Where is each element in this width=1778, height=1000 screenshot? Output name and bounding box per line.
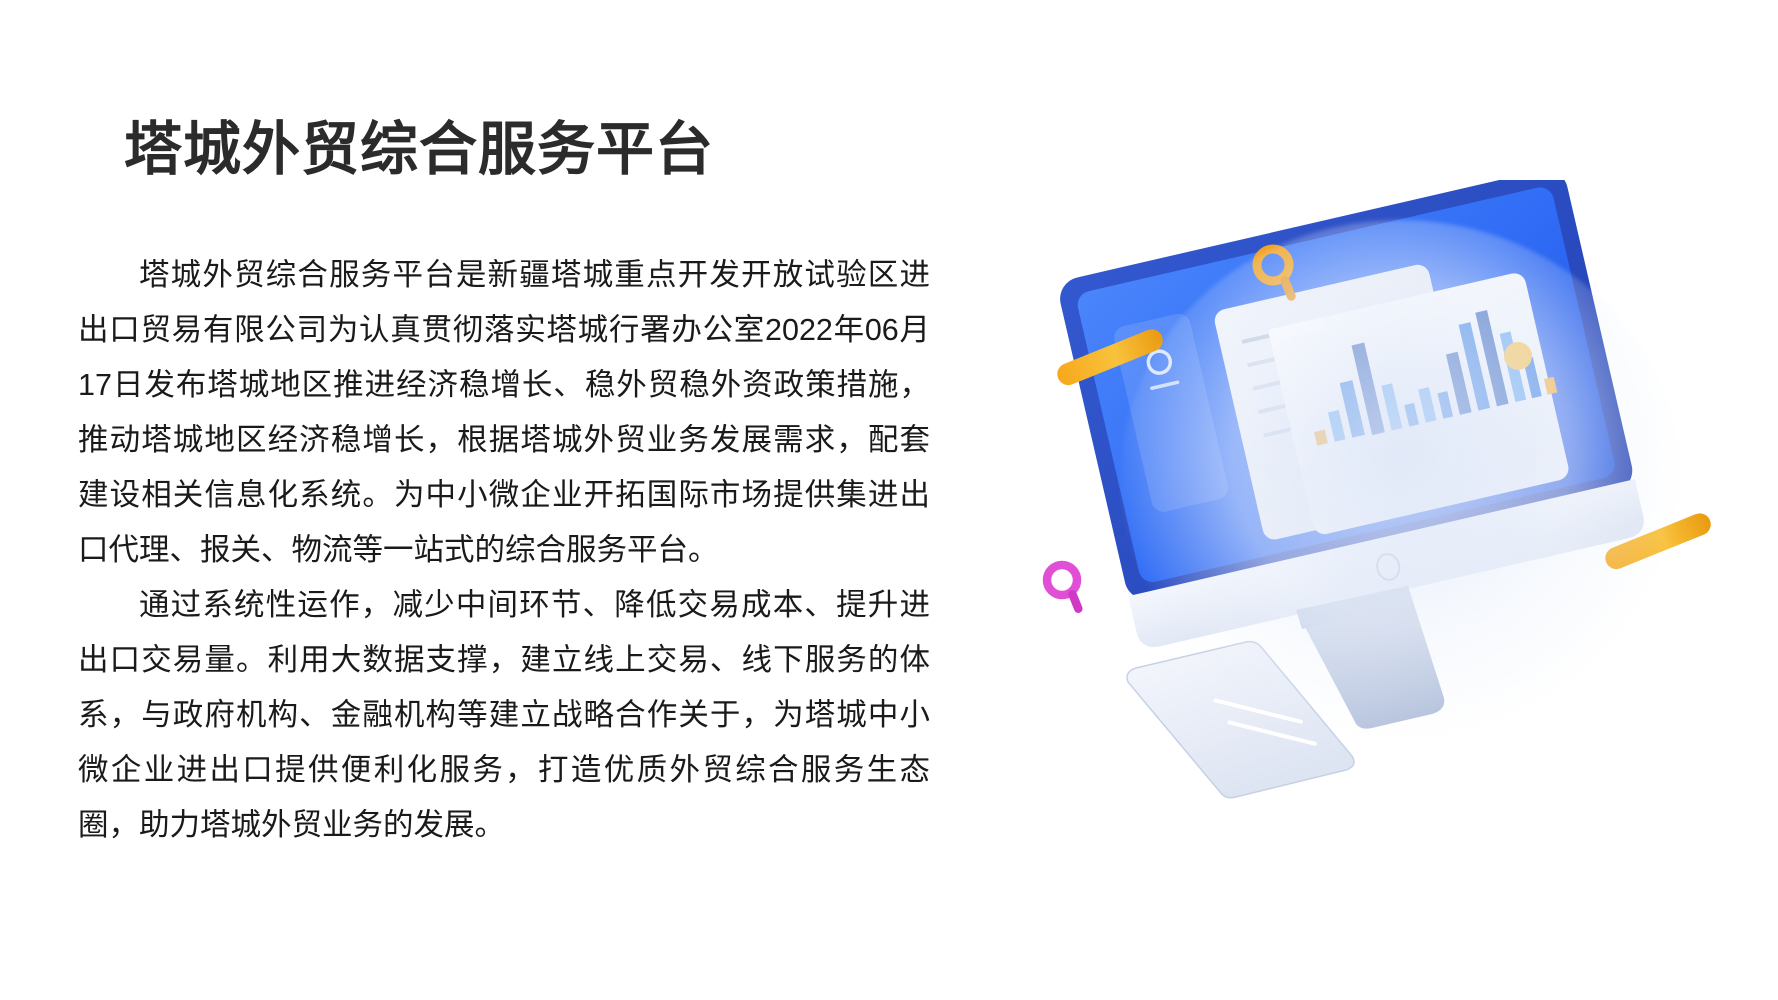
paragraph-2: 通过系统性运作，减少中间环节、降低交易成本、提升进出口交易量。利用大数据支撑，建… [78,578,930,853]
magnifier-magenta-icon [1047,565,1084,614]
paragraph-1: 塔城外贸综合服务平台是新疆塔城重点开发开放试验区进出口贸易有限公司为认真贯彻落实… [78,248,930,578]
page-title: 塔城外贸综合服务平台 [124,117,714,184]
body-copy: 塔城外贸综合服务平台是新疆塔城重点开发开放试验区进出口贸易有限公司为认真贯彻落实… [78,248,930,853]
text-column: 塔城外贸综合服务平台 塔城外贸综合服务平台是新疆塔城重点开发开放试验区进出口贸易… [0,0,1000,1000]
ambient-glow [1120,220,1680,740]
illustration-desktop-computer [1000,180,1778,800]
slide-canvas: 塔城外贸综合服务平台 塔城外贸综合服务平台是新疆塔城重点开发开放试验区进出口贸易… [0,0,1778,1000]
